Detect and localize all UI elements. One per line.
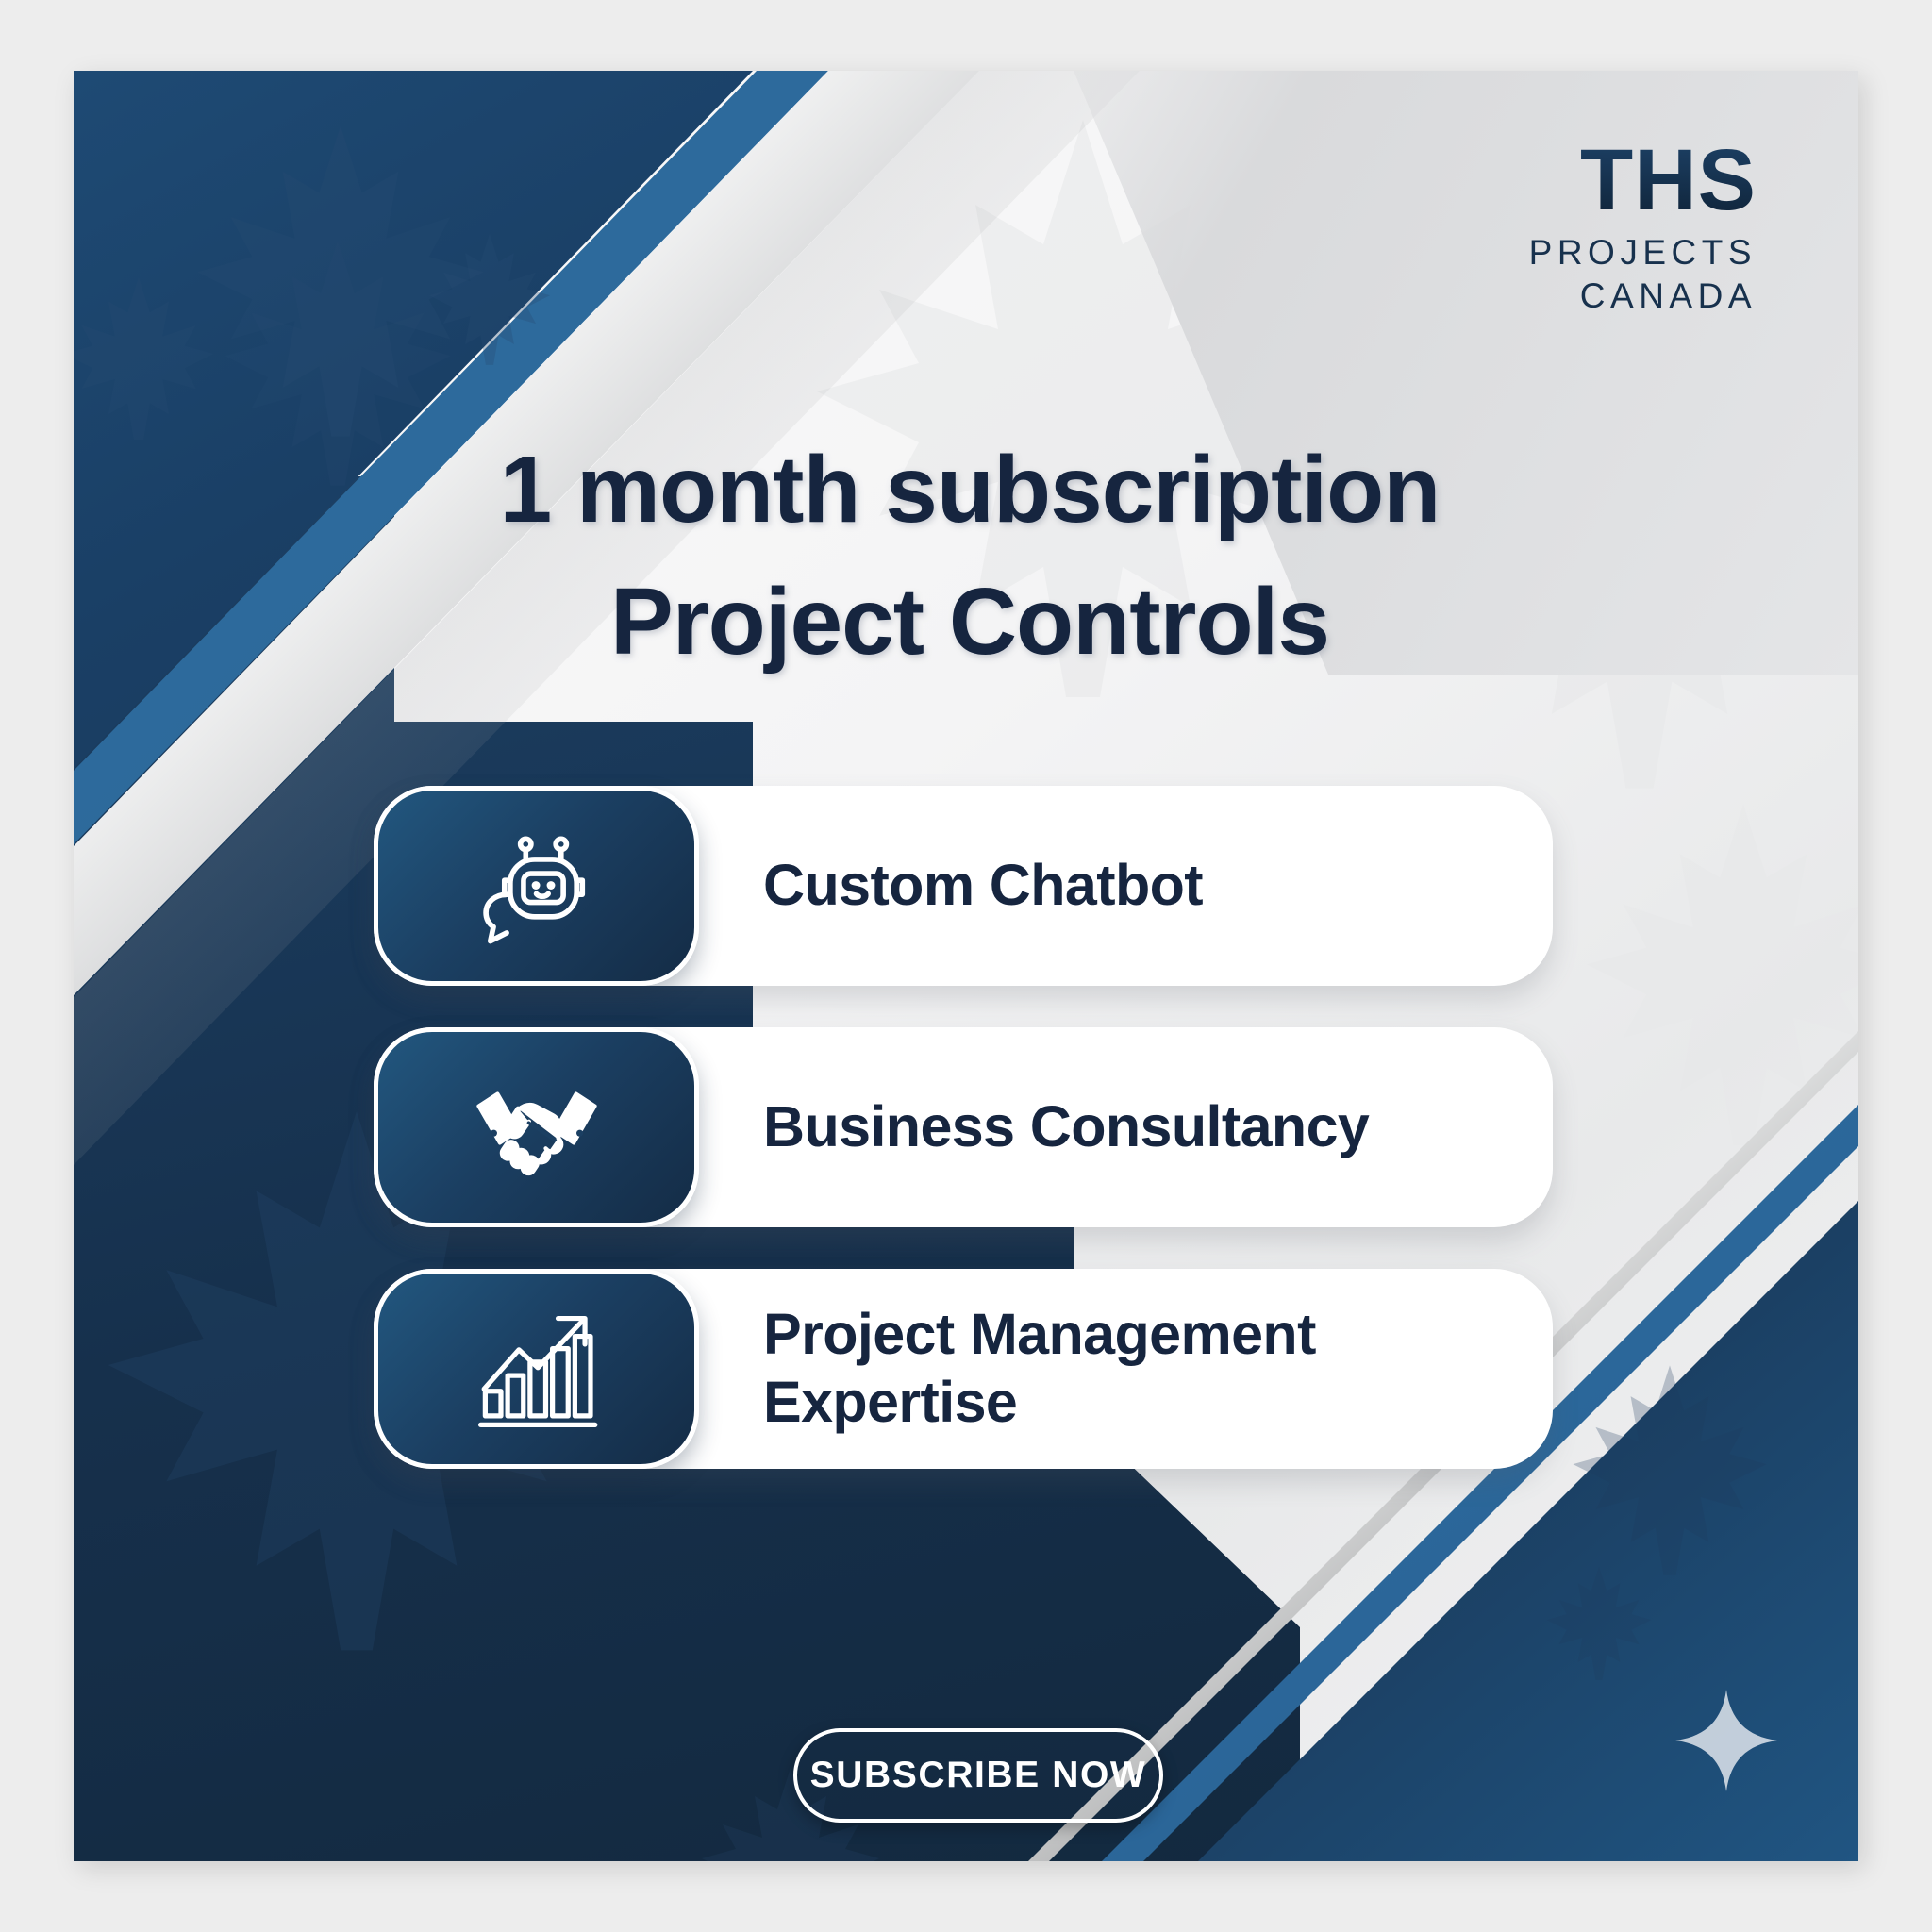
maple-leaf-navy-bottomright-small <box>1542 1564 1656 1687</box>
growth-chart-icon <box>374 1269 699 1469</box>
brand-line2: CANADA <box>1529 278 1757 313</box>
page-title: 1 month subscription Project Controls <box>413 434 1526 677</box>
feature-item-consultancy[interactable]: Business Consultancy <box>374 1027 1553 1227</box>
feature-label: Business Consultancy <box>699 1027 1553 1227</box>
brand-line1: PROJECTS <box>1529 235 1757 270</box>
brand-mark: THS <box>1529 137 1757 224</box>
feature-item-project-management[interactable]: Project Management Expertise <box>374 1269 1553 1469</box>
subscribe-now-button[interactable]: SUBSCRIBE NOW <box>793 1728 1163 1823</box>
subscribe-now-label: SUBSCRIBE NOW <box>810 1755 1147 1796</box>
chatbot-icon <box>374 786 699 986</box>
feature-label: Custom Chatbot <box>699 786 1553 986</box>
headline-line-1: 1 month subscription <box>413 434 1526 545</box>
feature-item-chatbot[interactable]: Custom Chatbot <box>374 786 1553 986</box>
handshake-icon <box>374 1027 699 1227</box>
poster-artboard: THS PROJECTS CANADA 1 month subscription… <box>74 71 1858 1861</box>
sparkle-icon <box>1675 1690 1777 1791</box>
headline-line-2: Project Controls <box>413 566 1526 677</box>
maple-leaf-navy-small-b <box>74 275 219 449</box>
brand-logo: THS PROJECTS CANADA <box>1529 137 1757 313</box>
feature-list: Custom Chatbot <box>374 786 1553 1510</box>
maple-leaf-watermark-right-lower <box>1574 797 1858 1165</box>
feature-label: Project Management Expertise <box>699 1269 1553 1469</box>
